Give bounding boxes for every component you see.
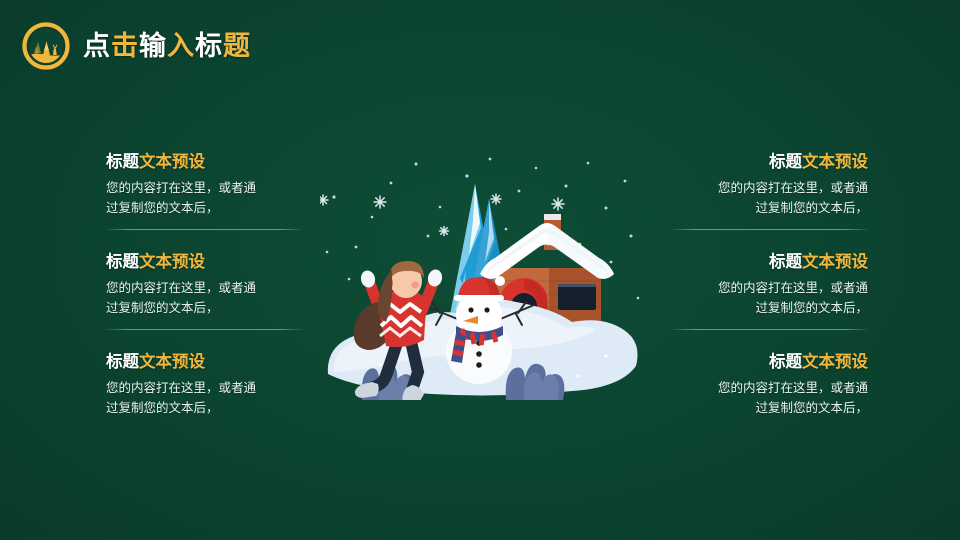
block-body: 您的内容打在这里，或者通 过复制您的文本后， — [106, 278, 306, 319]
slide-header: 点击输入标题 — [22, 22, 251, 70]
title-char-3: 输 — [139, 31, 167, 61]
title-char-2: 击 — [111, 31, 139, 61]
title-char-4: 入 — [167, 31, 195, 61]
winter-scene-badge-logo — [22, 22, 70, 70]
block-title-white: 标题 — [106, 353, 139, 371]
page-title: 点击输入标题 — [83, 33, 251, 60]
logo-badge-svg — [22, 22, 70, 70]
block-title-white: 标题 — [769, 353, 802, 371]
content-block-right-3[interactable]: 标题文本预设 您的内容打在这里，或者通 过复制您的文本后， — [668, 352, 868, 418]
block-body: 您的内容打在这里，或者通 过复制您的文本后， — [106, 378, 306, 419]
block-title-white: 标题 — [106, 253, 139, 271]
block-title-gold: 文本预设 — [802, 353, 868, 371]
block-title: 标题文本预设 — [106, 352, 306, 373]
block-title-gold: 文本预设 — [802, 153, 868, 171]
block-title-white: 标题 — [769, 153, 802, 171]
right-content-column: 标题文本预设 您的内容打在这里，或者通 过复制您的文本后， 标题文本预设 您的内… — [668, 152, 868, 418]
content-block-left-1[interactable]: 标题文本预设 您的内容打在这里，或者通 过复制您的文本后， — [106, 152, 306, 230]
slide-canvas: 点击输入标题 标题文本预设 您的内容打在这里，或者通 过复制您的文本后， 标题文… — [0, 0, 960, 540]
title-char-6: 题 — [223, 31, 251, 61]
title-char-1: 点 — [83, 31, 111, 61]
block-title: 标题文本预设 — [668, 152, 868, 173]
block-divider — [106, 329, 302, 330]
title-char-5: 标 — [195, 31, 223, 61]
block-body: 您的内容打在这里，或者通 过复制您的文本后， — [668, 378, 868, 419]
block-divider — [672, 329, 868, 330]
block-body: 您的内容打在这里，或者通 过复制您的文本后， — [106, 178, 306, 219]
block-title-gold: 文本预设 — [139, 253, 205, 271]
block-title-white: 标题 — [106, 153, 139, 171]
block-body: 您的内容打在这里，或者通 过复制您的文本后， — [668, 178, 868, 219]
block-title-gold: 文本预设 — [139, 353, 205, 371]
block-title-white: 标题 — [769, 253, 802, 271]
block-title-gold: 文本预设 — [802, 253, 868, 271]
block-title: 标题文本预设 — [668, 352, 868, 373]
block-divider — [672, 229, 868, 230]
block-title: 标题文本预设 — [668, 252, 868, 273]
block-divider — [106, 229, 302, 230]
winter-snow-scene-illustration — [320, 150, 644, 400]
block-title: 标题文本预设 — [106, 152, 306, 173]
content-block-left-3[interactable]: 标题文本预设 您的内容打在这里，或者通 过复制您的文本后， — [106, 352, 306, 418]
winter-scene-svg — [320, 150, 644, 400]
content-block-right-1[interactable]: 标题文本预设 您的内容打在这里，或者通 过复制您的文本后， — [668, 152, 868, 230]
content-block-left-2[interactable]: 标题文本预设 您的内容打在这里，或者通 过复制您的文本后， — [106, 252, 306, 330]
block-title: 标题文本预设 — [106, 252, 306, 273]
block-body: 您的内容打在这里，或者通 过复制您的文本后， — [668, 278, 868, 319]
left-content-column: 标题文本预设 您的内容打在这里，或者通 过复制您的文本后， 标题文本预设 您的内… — [106, 152, 306, 418]
block-title-gold: 文本预设 — [139, 153, 205, 171]
content-block-right-2[interactable]: 标题文本预设 您的内容打在这里，或者通 过复制您的文本后， — [668, 252, 868, 330]
